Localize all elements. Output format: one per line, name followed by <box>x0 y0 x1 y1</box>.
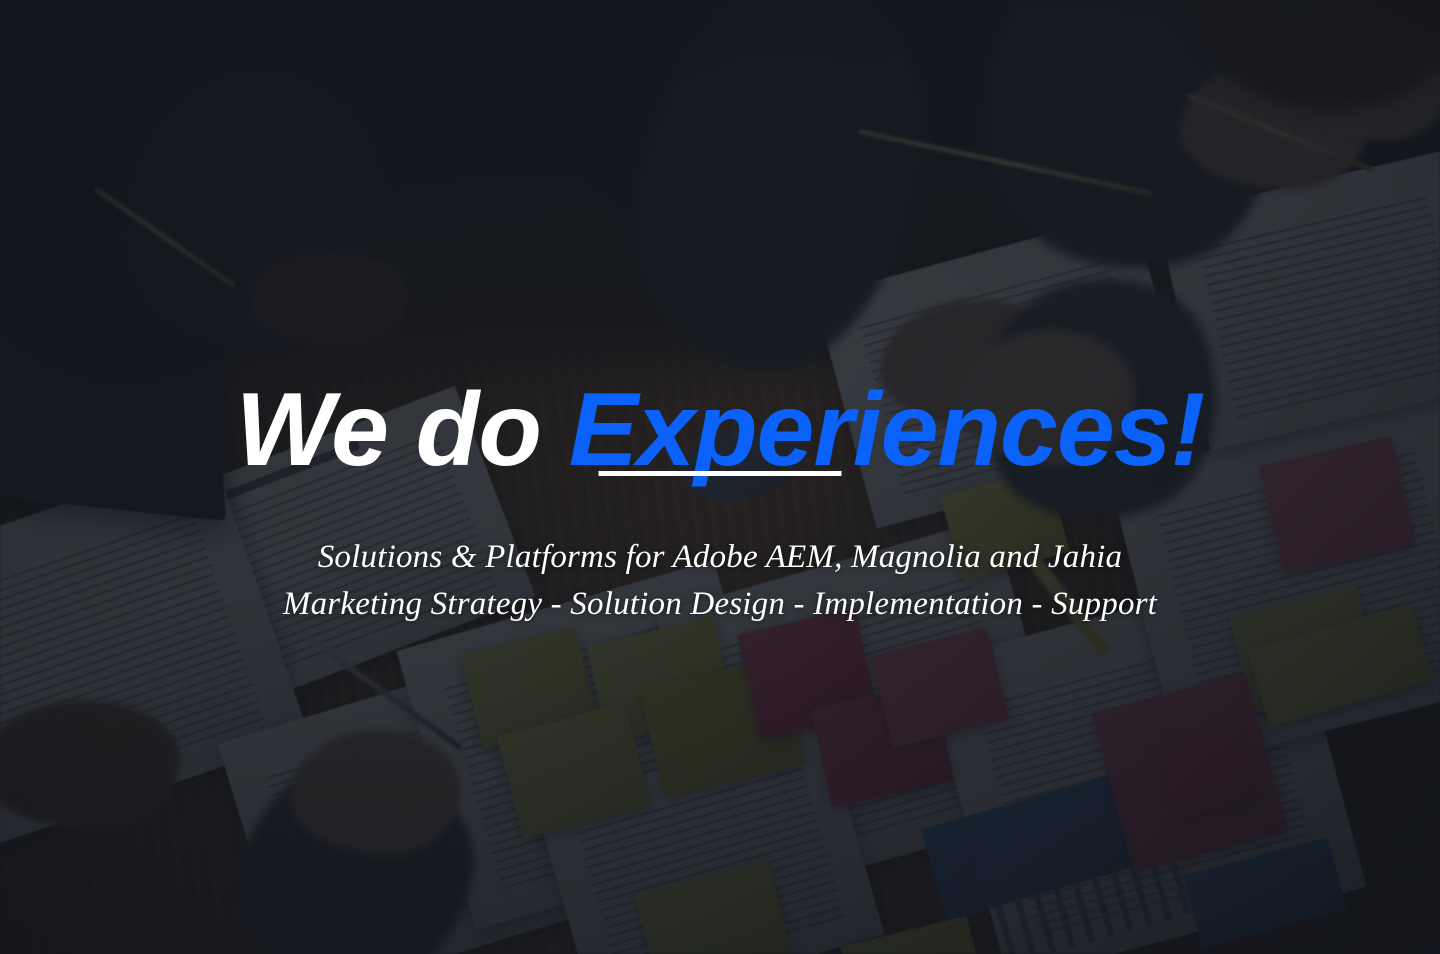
hero-subtitle-line-2: Marketing Strategy - Solution Design - I… <box>0 581 1440 628</box>
hero-subtitle: Solutions & Platforms for Adobe AEM, Mag… <box>0 534 1440 628</box>
headline-text-primary: We do <box>236 372 569 488</box>
hero-content: We do Experiences! Solutions & Platforms… <box>0 0 1440 954</box>
hero-headline: We do Experiences! <box>0 376 1440 485</box>
hero-subtitle-line-1: Solutions & Platforms for Adobe AEM, Mag… <box>0 534 1440 581</box>
hero-divider <box>599 471 842 476</box>
hero-banner: We do Experiences! Solutions & Platforms… <box>0 0 1440 954</box>
